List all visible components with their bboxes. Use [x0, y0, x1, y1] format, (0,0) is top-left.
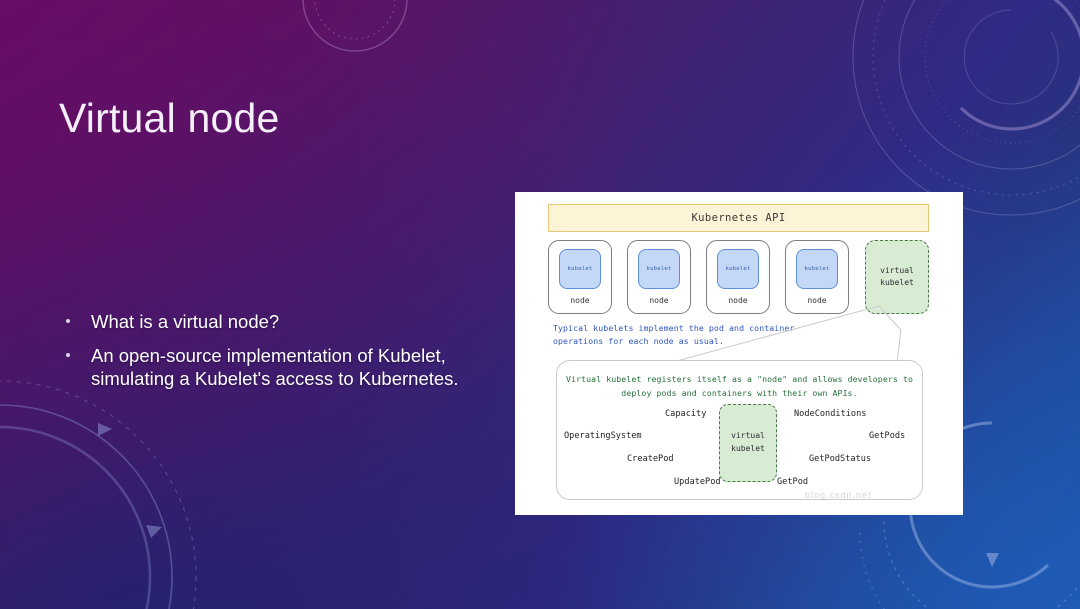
virtual-kubelet-line1: virtual — [880, 265, 914, 277]
kubelet-box: kubelet — [796, 249, 838, 289]
kubernetes-api-bar: Kubernetes API — [548, 204, 929, 232]
callout-line-1: Virtual kubelet registers itself as a "n… — [557, 373, 922, 387]
list-item: What is a virtual node? — [62, 310, 514, 333]
kubelet-box: kubelet — [559, 249, 601, 289]
virtual-kubelet-diagram: Kubernetes API kubelet node kubelet node… — [515, 192, 963, 515]
callout-caption: Virtual kubelet registers itself as a "n… — [557, 373, 922, 401]
concentric-circles-top-right-icon — [846, 0, 1080, 222]
virtual-kubelet-line2: kubelet — [880, 277, 914, 289]
watermark: blog.csdn.net — [805, 490, 872, 500]
callout-pointer-icon — [665, 300, 915, 366]
api-label-getpod: GetPod — [777, 477, 808, 487]
bullet-dot-icon — [66, 353, 70, 357]
slide-canvas: Virtual node What is a virtual node? An … — [0, 0, 1080, 609]
api-label-getpodstatus: GetPodStatus — [809, 454, 871, 464]
virtual-kubelet-center-box: virtual kubelet — [719, 404, 777, 482]
api-label-operatingsystem: OperatingSystem — [564, 431, 642, 441]
bullet-text: What is a virtual node? — [91, 311, 279, 332]
node-box: kubelet node — [548, 240, 612, 314]
api-label-updatepod: UpdatePod — [674, 477, 721, 487]
virtual-kubelet-center-line1: virtual — [731, 430, 765, 443]
api-label-getpods: GetPods — [869, 431, 905, 441]
virtual-kubelet-callout: Virtual kubelet registers itself as a "n… — [556, 360, 923, 500]
api-label-capacity: Capacity — [665, 409, 706, 419]
kubelet-box: kubelet — [717, 249, 759, 289]
api-label-nodeconditions: NodeConditions — [794, 409, 866, 419]
bullet-dot-icon — [66, 319, 70, 323]
diagram-panel: Kubernetes API kubelet node kubelet node… — [515, 192, 963, 515]
bullet-list: What is a virtual node? An open-source i… — [62, 310, 514, 401]
node-label: node — [570, 296, 589, 305]
callout-line-2: deploy pods and containers with their ow… — [557, 387, 922, 401]
api-label-createpod: CreatePod — [627, 454, 674, 464]
kubelet-box: kubelet — [638, 249, 680, 289]
list-item: An open-source implementation of Kubelet… — [62, 344, 514, 390]
bullet-text: An open-source implementation of Kubelet… — [91, 345, 459, 389]
page-title: Virtual node — [59, 96, 279, 142]
virtual-kubelet-center-line2: kubelet — [731, 443, 765, 456]
arc-top-left-icon — [260, 0, 450, 104]
